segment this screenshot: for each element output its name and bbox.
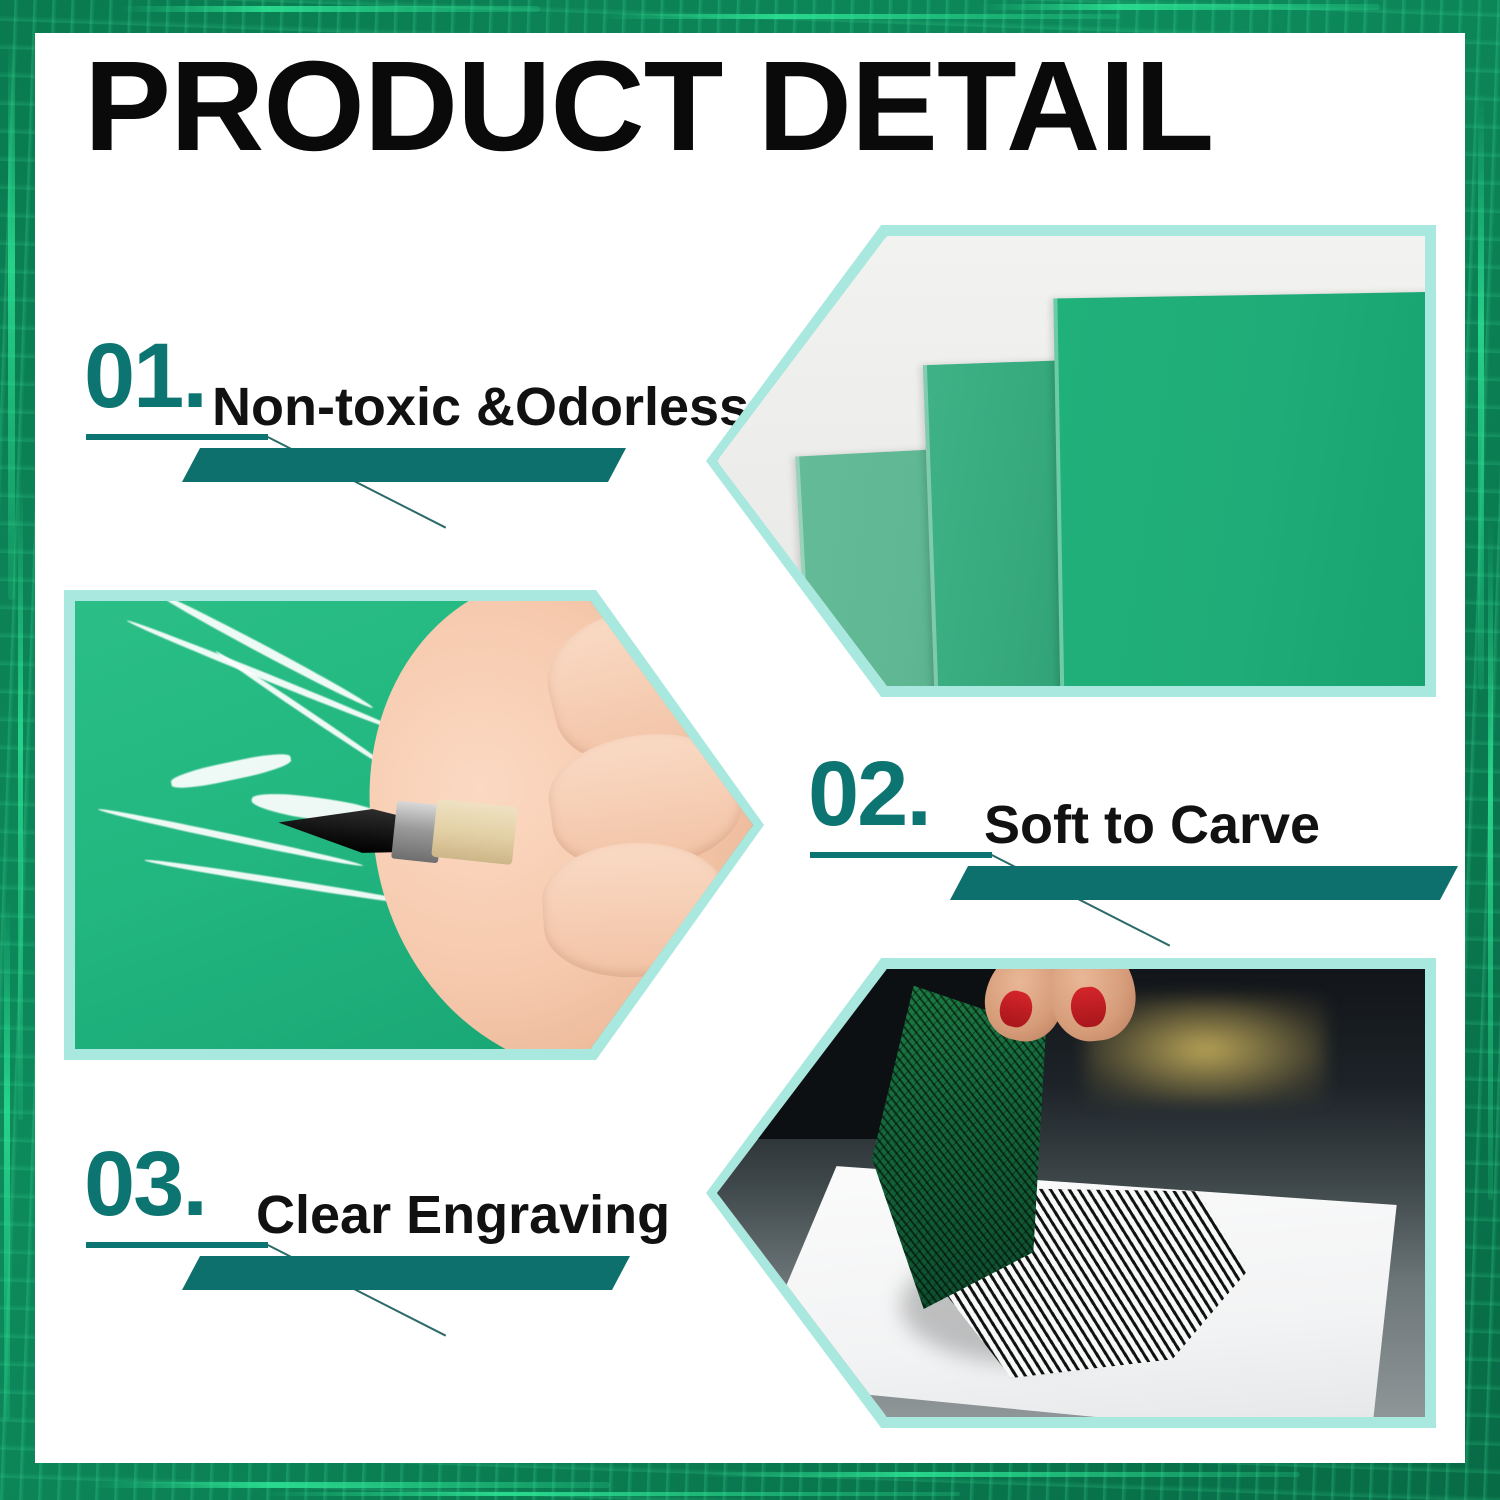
infographic-canvas: PRODUCT DETAIL 01. Non-toxic &Odorless 0…	[0, 0, 1500, 1500]
feature-number-rule-02	[810, 852, 992, 858]
feature-block-02: 02. Soft to Carve	[808, 748, 1468, 908]
feature-label-02: Soft to Carve	[984, 796, 1320, 854]
page-title: PRODUCT DETAIL	[84, 48, 1451, 166]
feature-number-rule-03	[86, 1242, 268, 1248]
photo-card-carving	[64, 590, 764, 1060]
feature-block-01: 01. Non-toxic &Odorless	[84, 330, 704, 490]
feature-label-01: Non-toxic &Odorless	[212, 378, 749, 436]
feature-bar-03	[182, 1256, 630, 1290]
feature-bar-02	[950, 866, 1458, 900]
feature-bar-01	[182, 448, 626, 482]
feature-number-01: 01.	[84, 330, 206, 422]
photo-card-stamping	[706, 958, 1436, 1428]
feature-block-03: 03. Clear Engraving	[84, 1138, 724, 1298]
photo-card-blocks	[706, 225, 1436, 697]
feature-number-02: 02.	[808, 748, 930, 840]
feature-label-03: Clear Engraving	[256, 1186, 670, 1244]
feature-number-03: 03.	[84, 1138, 206, 1230]
